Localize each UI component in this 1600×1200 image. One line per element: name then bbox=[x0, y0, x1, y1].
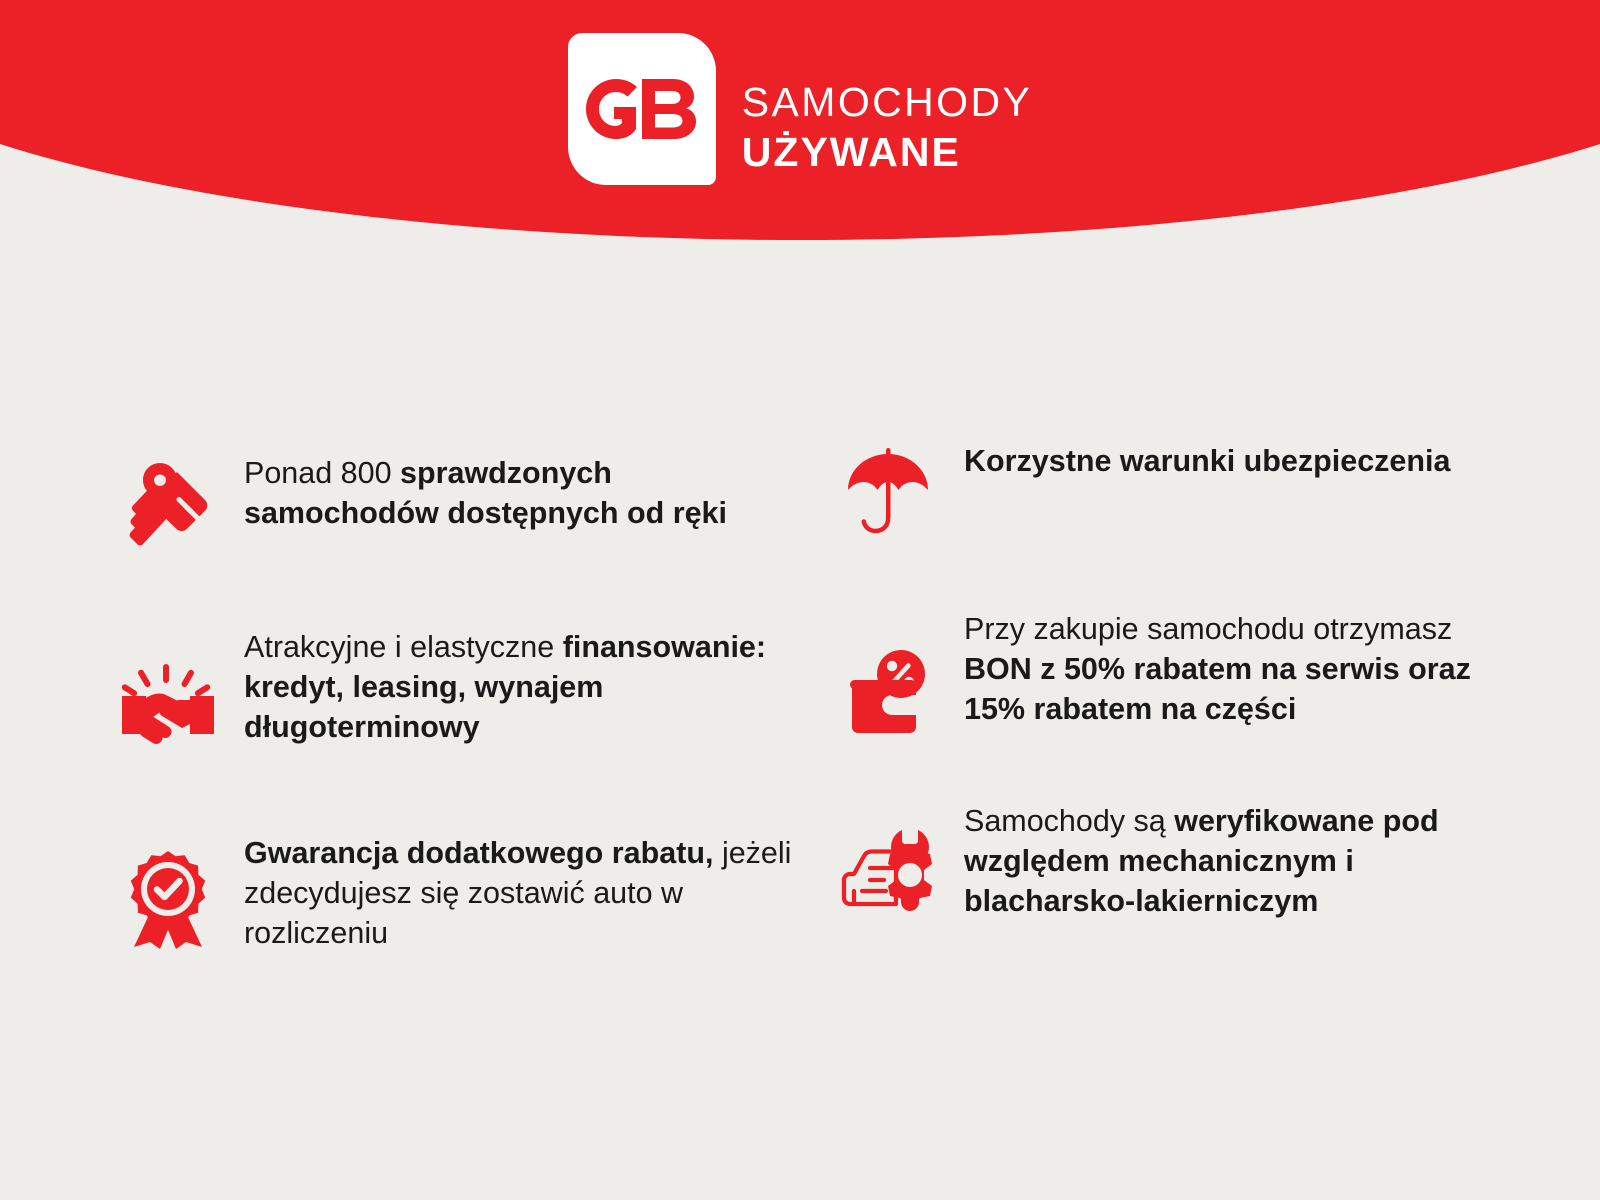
feature-text-bold: BON z 50% rabatem na serwis oraz 15% rab… bbox=[964, 652, 1471, 726]
handshake-icon bbox=[120, 656, 216, 752]
feature-text-normal: Ponad 800 bbox=[244, 456, 400, 490]
feature-item: Przy zakupie samochodu otrzymasz BON z 5… bbox=[840, 610, 1600, 740]
award-badge-icon bbox=[120, 852, 216, 948]
features-grid: Ponad 800 sprawdzonych samochodów dostęp… bbox=[0, 440, 1600, 954]
car-keys-icon bbox=[120, 454, 216, 550]
feature-text-normal: Samochody są bbox=[964, 804, 1174, 838]
feature-item: Atrakcyjne i elastyczne finansowanie: kr… bbox=[120, 628, 840, 752]
gb-logo-icon bbox=[586, 79, 698, 139]
feature-text: Atrakcyjne i elastyczne finansowanie: kr… bbox=[244, 628, 804, 748]
feature-text: Przy zakupie samochodu otrzymasz BON z 5… bbox=[964, 610, 1524, 730]
features-column-right: Korzystne warunki ubezpieczenia bbox=[840, 440, 1600, 954]
features-column-left: Ponad 800 sprawdzonych samochodów dostęp… bbox=[120, 440, 840, 954]
page-header: SAMOCHODY UŻYWANE bbox=[0, 0, 1600, 250]
feature-item: Ponad 800 sprawdzonych samochodów dostęp… bbox=[120, 440, 840, 550]
feature-item: Gwarancja dodatkowego rabatu, jeżeli zde… bbox=[120, 830, 840, 954]
feature-item: Samochody są weryfikowane pod względem m… bbox=[840, 802, 1600, 922]
feature-text-normal: Atrakcyjne i elastyczne bbox=[244, 630, 563, 664]
feature-text-bold: Gwarancja dodatkowego rabatu, bbox=[244, 836, 713, 870]
brand-title-line1: SAMOCHODY bbox=[742, 82, 1032, 123]
feature-text-normal: Przy zakupie samochodu otrzymasz bbox=[964, 612, 1452, 646]
feature-text: Korzystne warunki ubezpieczenia bbox=[964, 440, 1450, 482]
gb-logo-tile bbox=[568, 33, 716, 185]
brand-title-line2: UŻYWANE bbox=[742, 132, 1032, 173]
brand-logo[interactable]: SAMOCHODY UŻYWANE bbox=[568, 33, 1032, 185]
feature-item: Korzystne warunki ubezpieczenia bbox=[840, 440, 1600, 538]
feature-text: Gwarancja dodatkowego rabatu, jeżeli zde… bbox=[244, 830, 804, 954]
car-wrench-gear-icon bbox=[840, 826, 936, 922]
feature-text-bold: Korzystne warunki ubezpieczenia bbox=[964, 444, 1450, 478]
feature-text: Ponad 800 sprawdzonych samochodów dostęp… bbox=[244, 440, 804, 534]
umbrella-icon bbox=[840, 442, 936, 538]
feature-text: Samochody są weryfikowane pod względem m… bbox=[964, 802, 1524, 922]
wallet-percent-icon bbox=[840, 644, 936, 740]
